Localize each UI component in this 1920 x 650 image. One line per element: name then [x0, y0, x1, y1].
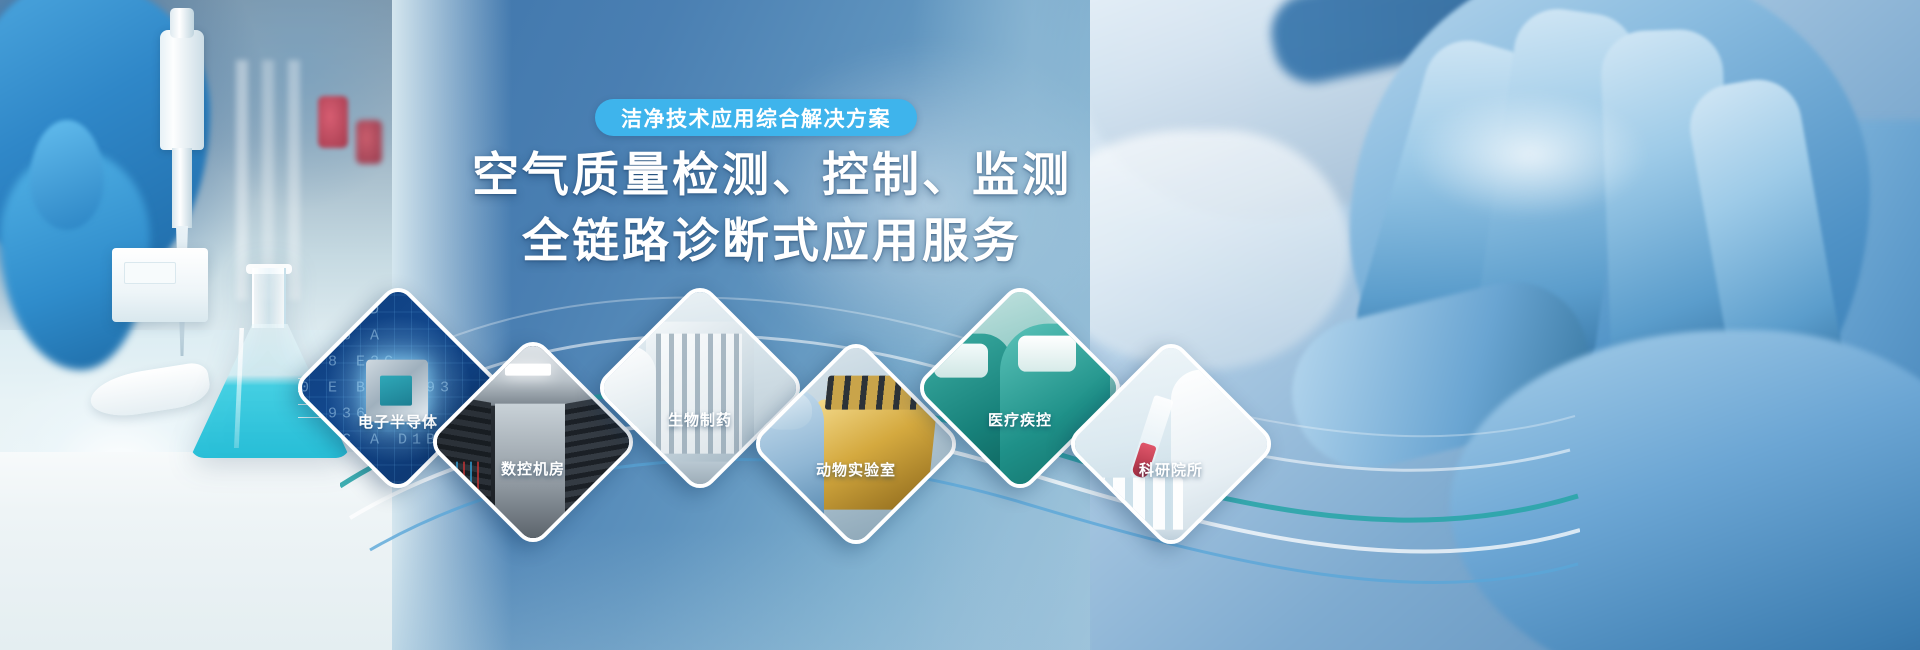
pharma-pipes [656, 334, 742, 454]
network-cables [435, 462, 479, 542]
gold-equipment [806, 400, 938, 510]
industry-card-label-animal-lab: 动物实验室 [816, 459, 896, 480]
industry-card-label-research-institute: 科研院所 [1139, 459, 1203, 480]
industry-card-label-semiconductor: 电子半导体 [358, 411, 438, 432]
industry-card-label-biopharma: 生物制药 [668, 409, 732, 430]
lab-bench [1065, 530, 1277, 552]
staff-mask-2 [1018, 336, 1076, 372]
industry-card-label-server-room: 数控机房 [501, 458, 565, 479]
staff-mask-1 [934, 344, 988, 378]
reagent-bottle-rack [1073, 478, 1183, 534]
industry-card-label-medical-cdc: 医疗疾控 [988, 409, 1052, 430]
hero-banner: 洁净技术应用综合解决方案 空气质量检测、控制、监测 全链路诊断式应用服务 E2 … [0, 0, 1920, 650]
industry-card-row: E2 F D5926 A7 8 E2C0 E B 3 6937 936 9B8 … [0, 0, 1920, 650]
